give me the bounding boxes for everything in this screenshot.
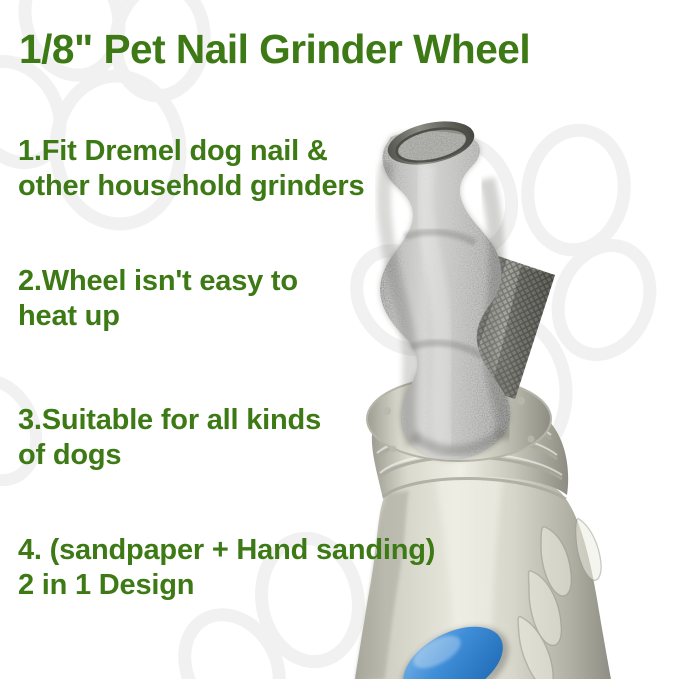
feature-item-4: 4. (sandpaper + Hand sanding) 2 in 1 Des… xyxy=(18,533,435,604)
copy-layer: 1/8" Pet Nail Grinder Wheel 1.Fit Dremel… xyxy=(0,0,679,679)
page-title: 1/8" Pet Nail Grinder Wheel xyxy=(19,27,530,71)
feature-item-1: 1.Fit Dremel dog nail & other household … xyxy=(18,134,364,205)
feature-item-2: 2.Wheel isn't easy to heat up xyxy=(18,264,298,335)
product-image-card: 1/8" Pet Nail Grinder Wheel 1.Fit Dremel… xyxy=(0,0,679,679)
feature-item-3: 3.Suitable for all kinds of dogs xyxy=(18,403,321,474)
